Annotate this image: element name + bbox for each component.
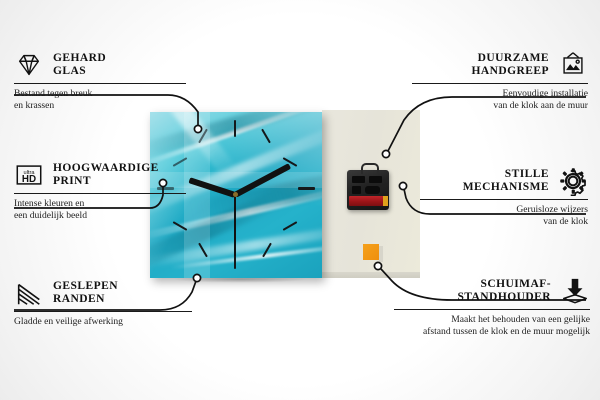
feature-title: HOOGWAARDIGE PRINT <box>53 162 159 189</box>
feature-description: Eenvoudige installatie van de klok aan d… <box>412 88 588 111</box>
framed-picture-icon <box>558 50 588 80</box>
feature-schuimafstandhouder: SCHUIMAF- STANDHOUDER Maakt het behouden… <box>394 276 590 337</box>
battery-positive-terminal <box>383 196 388 206</box>
diagonal-lines-icon <box>14 278 44 308</box>
clock-tick-1 <box>261 129 271 144</box>
infographic-canvas: GEHARD GLAS Bestand tegen breuk en krass… <box>0 0 600 400</box>
feature-stille-mechanisme: STILLE MECHANISME <box>420 166 588 227</box>
feature-title: STILLE MECHANISME <box>463 168 549 195</box>
feature-description: Gladde en veilige afwerking <box>14 316 192 328</box>
clock-movement-hook <box>361 163 379 174</box>
feature-description: Maakt het behouden van een gelijke afsta… <box>394 314 590 337</box>
feature-divider <box>14 193 186 194</box>
gear-icon <box>558 166 588 196</box>
feature-title: SCHUIMAF- STANDHOUDER <box>457 278 551 305</box>
clock-center-cap <box>233 192 238 197</box>
foam-spacer <box>363 244 379 260</box>
feature-divider <box>14 83 186 84</box>
feature-divider <box>14 311 192 312</box>
clock-tick-3 <box>298 187 315 190</box>
feature-hoogwaardige-print: ultra HD HOOGWAARDIGE PRINT Intense kleu… <box>14 160 186 221</box>
feature-geslepen-randen: GESLEPEN RANDEN Gladde en veilige afwerk… <box>14 278 192 328</box>
spacer-shadow <box>379 246 383 262</box>
feature-title: GEHARD GLAS <box>53 52 106 79</box>
feature-duurzame-handgreep: DUURZAME HANDGREEP Eenvoudige installati… <box>412 50 588 111</box>
feature-description: Geruisloze wijzers van de klok <box>420 204 588 227</box>
feature-divider <box>394 309 590 310</box>
feature-divider <box>420 199 588 200</box>
svg-text:HD: HD <box>22 174 36 185</box>
feature-description: Intense kleuren en een duidelijk beeld <box>14 198 186 221</box>
diamond-icon <box>14 50 44 80</box>
feature-title: GESLEPEN RANDEN <box>53 280 118 307</box>
clock-second-hand <box>234 194 236 256</box>
arrow-down-platform-icon <box>560 276 590 306</box>
feature-divider <box>412 83 588 84</box>
feature-description: Bestand tegen breuk en krassen <box>14 88 186 111</box>
ultra-hd-icon: ultra HD <box>14 160 44 190</box>
clock-tick-4 <box>283 221 298 231</box>
clock-tick-12 <box>234 120 236 137</box>
battery <box>349 196 387 206</box>
feature-title: DUURZAME HANDGREEP <box>471 52 549 79</box>
feature-gehard-glas: GEHARD GLAS Bestand tegen breuk en krass… <box>14 50 186 111</box>
